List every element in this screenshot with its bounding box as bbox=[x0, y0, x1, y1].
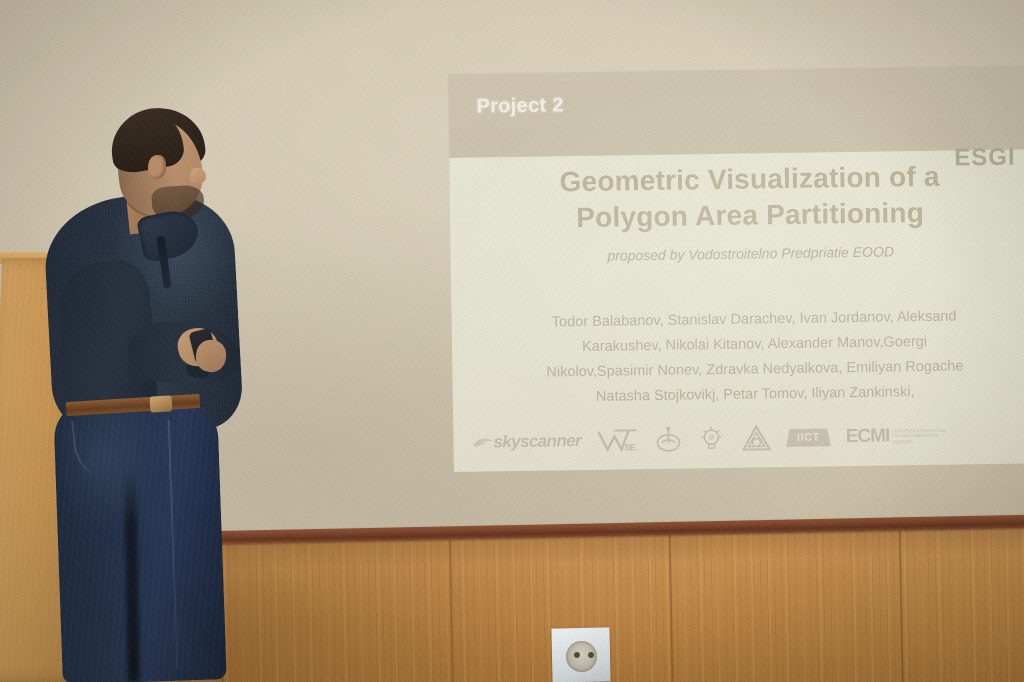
slide-author-list: Todor Balabanov, Stanislav Darachev, Iva… bbox=[462, 303, 1024, 412]
presenter-nose bbox=[189, 167, 208, 186]
circle-mark-logo bbox=[655, 425, 681, 455]
slide-project-tag: Project 2 bbox=[476, 94, 564, 118]
outlet-hole-left bbox=[574, 652, 580, 658]
belt-buckle bbox=[150, 395, 173, 412]
ecmi-logo-tagline: EUROPEAN CONSORTIUM FOR MATHEMATICS IN I… bbox=[892, 428, 948, 444]
outlet-hole-right bbox=[588, 652, 594, 658]
svg-text:BE: BE bbox=[624, 442, 636, 452]
photo-scene: Project 2 ESGI Geometric Visualization o… bbox=[0, 0, 1024, 682]
iict-logo: IICT bbox=[786, 422, 831, 453]
bas-triangle-logo bbox=[741, 423, 771, 453]
skyscanner-logo-label: skyscanner bbox=[493, 431, 581, 452]
wbe-logo: BE bbox=[596, 425, 640, 456]
iict-logo-label: IICT bbox=[786, 428, 831, 447]
ecmi-logo-label: ECMI bbox=[846, 425, 890, 448]
presenter-ear bbox=[148, 155, 166, 179]
projected-slide: Project 2 ESGI Geometric Visualization o… bbox=[448, 65, 1024, 472]
slide-title: Geometric Visualization of a Polygon Are… bbox=[449, 157, 1024, 238]
skyscanner-logo: skyscanner bbox=[471, 426, 581, 458]
presenter-figure bbox=[0, 0, 300, 682]
ecmi-logo: ECMI EUROPEAN CONSORTIUM FOR MATHEMATICS… bbox=[846, 421, 949, 453]
lightbulb-logo bbox=[696, 424, 726, 454]
